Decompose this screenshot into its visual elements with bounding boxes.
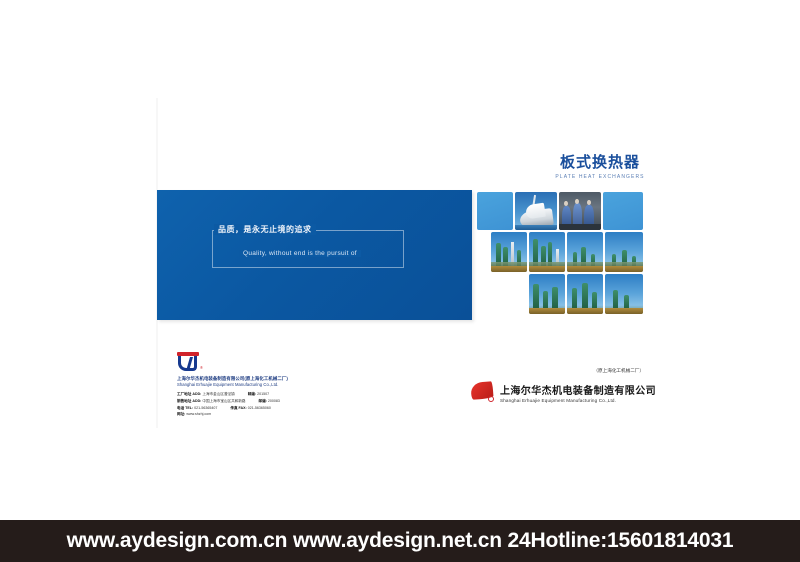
erhuajie-logo-mark-icon: ® (177, 352, 199, 372)
refinery-ground (567, 266, 603, 272)
refinery-tower (582, 283, 588, 310)
cover-title-block: 板式换热器 PLATE HEAT EXCHANGERS (545, 155, 655, 180)
refinery-ground (605, 266, 643, 272)
lab-worker-head (564, 201, 568, 206)
address-label: 电话 TEL: (177, 406, 193, 410)
right-company-en: Shanghai Erhuajie Equipment Manufacturin… (500, 398, 656, 403)
address-tel-label: 传真 FAX: (230, 406, 246, 410)
address-tel-label: 邮编: (258, 399, 266, 403)
refinery-illustration (529, 232, 565, 272)
address-label: 销售地址 ADD: (177, 399, 201, 403)
refinery-illustration (605, 274, 643, 314)
address-value: 中国上海市宝山区共和新路 (202, 399, 245, 403)
left-brand-block: ® 上海尔华杰机电装备制造有限公司(原上海化工机械二厂) Shanghai Er… (177, 352, 317, 418)
ship-illustration (515, 192, 557, 230)
left-company-en: Shanghai Erhuajie Equipment Manufacturin… (177, 382, 317, 387)
lab-workers-photo (559, 192, 601, 230)
placeholder-tile (603, 192, 643, 230)
cover-blue-panel: 品质，是永无止境的追求 Quality, without end is the … (157, 190, 472, 320)
address-value: 上海市金山区漕泾镇 (202, 392, 234, 396)
address-tel-value: 200083 (268, 399, 280, 403)
refinery-ground (605, 308, 643, 314)
refinery-ground (529, 266, 565, 272)
refinery-ground (567, 308, 603, 314)
page-title: 板式换热器 (545, 155, 655, 172)
refinery-photo (529, 274, 565, 314)
registered-dot-icon (488, 396, 494, 402)
slogan-cn: 品质，是永无止境的追求 (214, 224, 316, 235)
refinery-photo (529, 232, 565, 272)
address-list: 工厂地址 ADD: 上海市金山区漕泾镇 邮编: 201507 销售地址 ADD:… (177, 391, 317, 418)
ship-photo (515, 192, 557, 230)
refinery-photo (567, 274, 603, 314)
address-row: 电话 TEL: 021-56365407 传真 FAX: 021-5636506… (177, 405, 317, 412)
refinery-ground (529, 308, 565, 314)
address-label: 工厂地址 ADD: (177, 392, 201, 396)
right-company-cn: 上海尔华杰机电装备制造有限公司 (500, 382, 656, 397)
refinery-photo (491, 232, 527, 272)
lab-worker-head (575, 199, 579, 204)
refinery-tower (552, 287, 558, 310)
refinery-illustration (567, 274, 603, 314)
refinery-illustration (605, 232, 643, 272)
registered-mark-icon: ® (200, 365, 203, 370)
slogan-en: Quality, without end is the pursuit of (239, 250, 361, 257)
brand-text: 上海尔华杰机电装备制造有限公司 Shanghai Erhuajie Equipm… (500, 382, 656, 403)
address-label: 网址: (177, 412, 185, 416)
address-value: 021-56365407 (194, 406, 217, 410)
placeholder-tile (477, 192, 513, 230)
address-tel-label: 邮编: (248, 392, 256, 396)
refinery-ground (491, 266, 527, 272)
erhuajie-flame-logo-icon (470, 380, 494, 404)
refinery-illustration (491, 232, 527, 272)
watermark-footer-banner: www.aydesign.com.cn www.aydesign.net.cn … (0, 520, 800, 562)
watermark-text: www.aydesign.com.cn www.aydesign.net.cn … (67, 529, 734, 553)
former-name-note: （原上海化工机械二厂） (593, 368, 644, 374)
refinery-illustration (567, 232, 603, 272)
address-tel-value: 201507 (257, 392, 269, 396)
page-subtitle: PLATE HEAT EXCHANGERS (545, 174, 655, 180)
address-value[interactable]: www.shzhj.com (186, 412, 211, 416)
address-row: 工厂地址 ADD: 上海市金山区漕泾镇 邮编: 201507 (177, 391, 317, 398)
slogan-frame (212, 230, 404, 268)
right-brand-block: （原上海化工机械二厂） 上海尔华杰机电装备制造有限公司 Shanghai Erh… (470, 372, 650, 404)
address-tel-value: 021-56365060 (248, 406, 271, 410)
refinery-photo (567, 232, 603, 272)
brochure-canvas: 板式换热器 PLATE HEAT EXCHANGERS 品质，是永无止境的追求 … (0, 0, 800, 562)
refinery-tower (533, 284, 539, 310)
refinery-illustration (529, 274, 565, 314)
address-row: 网址: www.shzhj.com (177, 411, 317, 418)
refinery-photo (605, 274, 643, 314)
refinery-photo (605, 232, 643, 272)
lab-illustration (559, 192, 601, 230)
lab-bench (559, 224, 601, 230)
ship-water (515, 225, 557, 230)
address-row: 销售地址 ADD: 中国上海市宝山区共和新路 邮编: 200083 (177, 398, 317, 405)
brand-lockup: 上海尔华杰机电装备制造有限公司 Shanghai Erhuajie Equipm… (470, 380, 650, 404)
